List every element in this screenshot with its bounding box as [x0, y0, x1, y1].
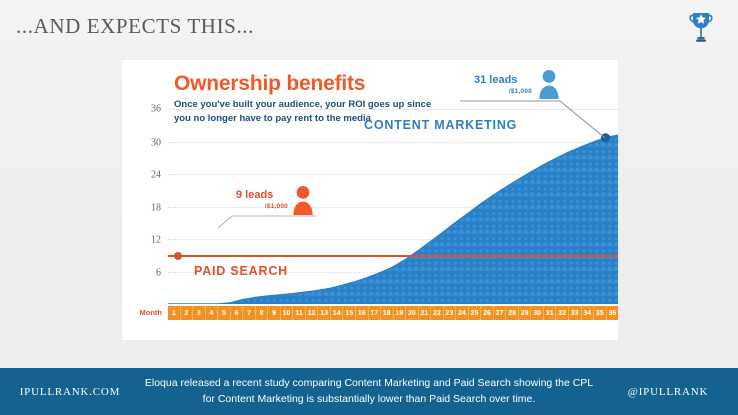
paid-search-line [168, 255, 618, 257]
month-cell: 31 [544, 306, 557, 320]
footer-website[interactable]: IPULLRANK.COM [0, 386, 140, 398]
month-cell: 4 [206, 306, 219, 320]
chart-panel: Ownership benefits Once you've built you… [122, 60, 618, 340]
month-axis-label: Month [140, 308, 163, 317]
slide-header: ...AND EXPECTS THIS... [0, 0, 738, 58]
page-title: ...AND EXPECTS THIS... [16, 14, 254, 39]
month-cell: 27 [494, 306, 507, 320]
month-axis: Month 1 2 3 4 5 6 7 8 9 10 11 12 13 14 1… [168, 306, 618, 320]
month-cell: 19 [394, 306, 407, 320]
month-cell: 22 [431, 306, 444, 320]
month-cell: 28 [506, 306, 519, 320]
month-cell: 30 [531, 306, 544, 320]
ytick-label: 36 [151, 104, 161, 115]
month-cell: 15 [343, 306, 356, 320]
month-cell: 7 [243, 306, 256, 320]
footer-twitter-handle[interactable]: @IPULLRANK [598, 386, 738, 398]
month-cell: 24 [456, 306, 469, 320]
callout-leads-per: /$1,000 [236, 203, 288, 210]
month-cell: 20 [406, 306, 419, 320]
series-label-paid-search: PAID SEARCH [194, 264, 288, 278]
month-cell: 32 [556, 306, 569, 320]
slide-canvas: ...AND EXPECTS THIS... Ownership benefit… [0, 0, 738, 415]
month-cell: 36 [607, 306, 619, 320]
callout-leads-value: 31 leads [474, 75, 517, 87]
person-icon [292, 184, 314, 221]
month-cell: 21 [419, 306, 432, 320]
footer-caption: Eloqua released a recent study comparing… [140, 376, 598, 406]
month-cell: 35 [594, 306, 607, 320]
ytick-label: 6 [156, 267, 161, 278]
month-cell: 33 [569, 306, 582, 320]
month-cell: 26 [481, 306, 494, 320]
paid-search-marker [174, 252, 182, 260]
month-cell: 13 [318, 306, 331, 320]
ytick-label: 30 [151, 137, 161, 148]
ytick-label: 18 [151, 202, 161, 213]
plot-area: 36 30 24 18 12 6 [168, 98, 618, 304]
callout-leads-per: /$1,000 [474, 88, 532, 95]
month-cell: 17 [369, 306, 382, 320]
month-cell: 29 [519, 306, 532, 320]
month-cell: 16 [356, 306, 369, 320]
callout-paid-search: 9 leads /$1,000 [216, 184, 344, 230]
month-cell: 6 [231, 306, 244, 320]
month-cell: 34 [582, 306, 595, 320]
month-cell: 9 [268, 306, 281, 320]
month-cell: 23 [444, 306, 457, 320]
person-icon [538, 68, 560, 105]
month-cell: 1 [168, 306, 181, 320]
month-cell: 14 [331, 306, 344, 320]
month-cell: 12 [306, 306, 319, 320]
callout-leads-value: 9 leads [236, 190, 273, 202]
ytick-label: 24 [151, 170, 161, 181]
month-cell: 5 [218, 306, 231, 320]
month-cell: 10 [281, 306, 294, 320]
month-cell: 25 [469, 306, 482, 320]
month-cell: 11 [293, 306, 306, 320]
month-cell: 2 [181, 306, 194, 320]
month-cell: 8 [256, 306, 269, 320]
trophy-icon [688, 10, 714, 44]
chart-inner: Ownership benefits Once you've built you… [122, 60, 618, 340]
month-cell: 3 [193, 306, 206, 320]
month-cell: 18 [381, 306, 394, 320]
slide-footer: IPULLRANK.COM Eloqua released a recent s… [0, 368, 738, 415]
callout-content-marketing: 31 leads /$1,000 [452, 70, 612, 144]
ytick-label: 12 [151, 235, 161, 246]
